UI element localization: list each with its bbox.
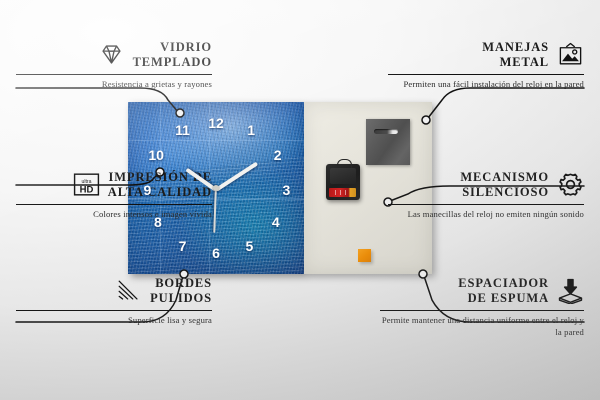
feature-description: Superficie lisa y segura bbox=[16, 315, 212, 327]
foam-spacer bbox=[358, 249, 371, 262]
feature-header: BORDES PULIDOS bbox=[16, 276, 212, 306]
feature-description: Las manecillas del reloj no emiten ningú… bbox=[388, 209, 584, 221]
feature-title-line1: VIDRIO bbox=[133, 40, 212, 55]
clock-numeral-10: 10 bbox=[148, 148, 164, 162]
clock-numeral-4: 4 bbox=[272, 215, 280, 229]
feature-header: VIDRIO TEMPLADO bbox=[16, 40, 212, 70]
feature-title-line1: ESPACIADOR bbox=[458, 276, 549, 291]
clock-numeral-9: 9 bbox=[143, 183, 151, 197]
feature-title-line1: BORDES bbox=[150, 276, 212, 291]
feature-impresion-alta-calidad[interactable]: ultra HD IMPRESIÓN DE ALTA CALIDAD Color… bbox=[16, 170, 212, 221]
feature-header: MECANISMO SILENCIOSO bbox=[388, 170, 584, 200]
clock-numeral-2: 2 bbox=[274, 148, 282, 162]
feature-description: Colores intensos e imagen vívida bbox=[16, 209, 212, 221]
clock-numeral-8: 8 bbox=[154, 215, 162, 229]
polished-edge-icon bbox=[115, 277, 142, 304]
feature-bordes-pulidos[interactable]: BORDES PULIDOS Superficie lisa y segura bbox=[16, 276, 212, 327]
feature-description: Permite mantener una distancia uniforme … bbox=[380, 315, 584, 338]
clock-numeral-5: 5 bbox=[246, 239, 254, 253]
clock-numeral-6: 6 bbox=[212, 246, 220, 260]
feature-divider bbox=[16, 204, 212, 206]
svg-text:HD: HD bbox=[79, 185, 93, 196]
feature-mecanismo-silencioso[interactable]: MECANISMO SILENCIOSO Las manecillas del … bbox=[388, 170, 584, 221]
feature-vidrio-templado[interactable]: VIDRIO TEMPLADO Resistencia a grietas y … bbox=[16, 40, 212, 91]
battery bbox=[329, 188, 356, 197]
feature-manejas-metal[interactable]: MANEJAS METAL Permiten una fácil instala… bbox=[388, 40, 584, 91]
feature-divider bbox=[16, 74, 212, 76]
feature-title-line2: DE ESPUMA bbox=[458, 291, 549, 306]
clock-second-hand bbox=[214, 189, 217, 233]
feature-title-line2: ALTA CALIDAD bbox=[108, 185, 212, 200]
feature-header: ultra HD IMPRESIÓN DE ALTA CALIDAD bbox=[16, 170, 212, 200]
diamond-icon bbox=[98, 41, 125, 68]
clock-mechanism bbox=[326, 164, 360, 200]
clock-numeral-11: 11 bbox=[175, 123, 190, 137]
picture-frame-icon bbox=[557, 41, 584, 68]
feature-divider bbox=[388, 204, 584, 206]
feature-title-line2: TEMPLADO bbox=[133, 55, 212, 70]
clock-numeral-1: 1 bbox=[247, 123, 255, 137]
feature-description: Permiten una fácil instalación del reloj… bbox=[388, 79, 584, 91]
feature-title: VIDRIO TEMPLADO bbox=[133, 40, 212, 70]
feature-title-line2: METAL bbox=[482, 55, 549, 70]
feature-title: MANEJAS METAL bbox=[482, 40, 549, 70]
feature-espaciador-espuma[interactable]: ESPACIADOR DE ESPUMA Permite mantener un… bbox=[380, 276, 584, 338]
feature-title-line1: MANEJAS bbox=[482, 40, 549, 55]
feature-title-line2: SILENCIOSO bbox=[460, 185, 549, 200]
feature-divider bbox=[388, 74, 584, 76]
feature-divider bbox=[16, 310, 212, 312]
feature-divider bbox=[380, 310, 584, 312]
metal-hanger-plate bbox=[366, 119, 410, 165]
clock-numeral-3: 3 bbox=[282, 183, 290, 197]
clock-minute-hand bbox=[215, 162, 258, 192]
clock-numeral-12: 12 bbox=[208, 116, 224, 130]
feature-title: BORDES PULIDOS bbox=[150, 276, 212, 306]
ultra-hd-icon: ultra HD bbox=[73, 171, 100, 198]
mechanism-hook bbox=[337, 159, 352, 168]
gear-icon bbox=[557, 171, 584, 198]
clock-numeral-7: 7 bbox=[179, 239, 187, 253]
foam-spacer-icon bbox=[557, 277, 584, 304]
feature-description: Resistencia a grietas y rayones bbox=[16, 79, 212, 91]
hanger-slot bbox=[374, 129, 398, 134]
feature-title-line2: PULIDOS bbox=[150, 291, 212, 306]
feature-title: ESPACIADOR DE ESPUMA bbox=[458, 276, 549, 306]
feature-header: MANEJAS METAL bbox=[388, 40, 584, 70]
feature-title-line1: MECANISMO bbox=[460, 170, 549, 185]
feature-header: ESPACIADOR DE ESPUMA bbox=[380, 276, 584, 306]
feature-title: MECANISMO SILENCIOSO bbox=[460, 170, 549, 200]
clock-center-hub bbox=[213, 185, 219, 191]
infographic-canvas: 12 1 2 3 4 5 6 7 8 9 10 11 bbox=[0, 0, 600, 400]
mechanism-body bbox=[330, 168, 356, 184]
